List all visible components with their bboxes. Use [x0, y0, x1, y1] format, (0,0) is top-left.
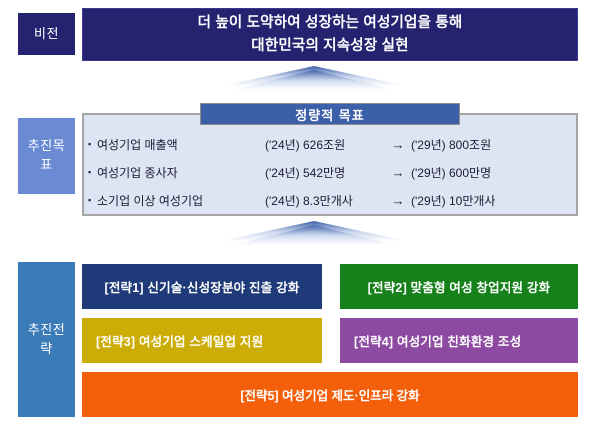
- goal-arrow-icon: →: [385, 137, 411, 152]
- vision-row-label: 비전: [18, 13, 75, 55]
- strategy-row-label-line1: 추진전: [28, 321, 65, 340]
- strategy-box-5[interactable]: [전략5] 여성기업 제도·인프라 강화: [82, 372, 578, 417]
- up-chevron-arrow-icon-2: [219, 219, 409, 253]
- strategy-grid: [전략1] 신기술·신성장분야 진출 강화 [전략2] 맞춤형 여성 창업지원 …: [82, 262, 578, 366]
- vision-strategy-diagram: 비전 더 높이 도약하여 성장하는 여성기업을 통해 대한민국의 지속성장 실현…: [0, 0, 607, 435]
- goal-base: ('24년) 8.3만개사: [265, 192, 385, 209]
- strategy-box-4[interactable]: [전략4] 여성기업 친화환경 조성: [340, 318, 578, 363]
- goals-row-label: 추진목 표: [18, 118, 75, 194]
- up-chevron-arrow-icon-1: [219, 64, 409, 98]
- goal-arrow-icon: →: [385, 193, 411, 208]
- goal-base: ('24년) 542만명: [265, 164, 385, 181]
- goals-row-label-line2: 표: [40, 156, 52, 175]
- bullet-icon: ▪: [88, 140, 97, 149]
- strategy-box-3[interactable]: [전략3] 여성기업 스케일업 지원: [82, 318, 322, 363]
- goals-row-label-line1: 추진목: [28, 137, 65, 156]
- goal-target: ('29년) 600만명: [411, 164, 574, 181]
- vision-text-line1: 더 높이 도약하여 성장하는 여성기업을 통해: [198, 15, 463, 31]
- goal-row: ▪ 소기업 이상 여성기업 ('24년) 8.3만개사 → ('29년) 10만…: [88, 187, 574, 213]
- goal-row: ▪ 여성기업 매출액 ('24년) 626조원 → ('29년) 800조원: [88, 131, 574, 157]
- vision-banner: 더 높이 도약하여 성장하는 여성기업을 통해 대한민국의 지속성장 실현: [82, 8, 578, 61]
- goals-table: ▪ 여성기업 매출액 ('24년) 626조원 → ('29년) 800조원 ▪…: [88, 130, 574, 214]
- goals-header-band: 정량적 목표: [200, 103, 460, 125]
- goal-base: ('24년) 626조원: [265, 136, 385, 153]
- strategy-row-label: 추진전 략: [18, 262, 75, 417]
- vision-text-line2: 대한민국의 지속성장 실현: [198, 35, 463, 57]
- goal-arrow-icon: →: [385, 165, 411, 180]
- goal-row: ▪ 여성기업 종사자 ('24년) 542만명 → ('29년) 600만명: [88, 159, 574, 185]
- strategy-row-label-line2: 략: [40, 340, 52, 359]
- goal-name: 여성기업 종사자: [97, 164, 265, 181]
- goal-target: ('29년) 10만개사: [411, 192, 574, 209]
- strategy-box-2[interactable]: [전략2] 맞춤형 여성 창업지원 강화: [340, 264, 578, 309]
- goal-target: ('29년) 800조원: [411, 136, 574, 153]
- goal-name: 소기업 이상 여성기업: [97, 192, 265, 209]
- strategy-area: [전략1] 신기술·신성장분야 진출 강화 [전략2] 맞춤형 여성 창업지원 …: [82, 262, 578, 417]
- bullet-icon: ▪: [88, 168, 97, 177]
- bullet-icon: ▪: [88, 196, 97, 205]
- goal-name: 여성기업 매출액: [97, 136, 265, 153]
- strategy-box-1[interactable]: [전략1] 신기술·신성장분야 진출 강화: [82, 264, 322, 309]
